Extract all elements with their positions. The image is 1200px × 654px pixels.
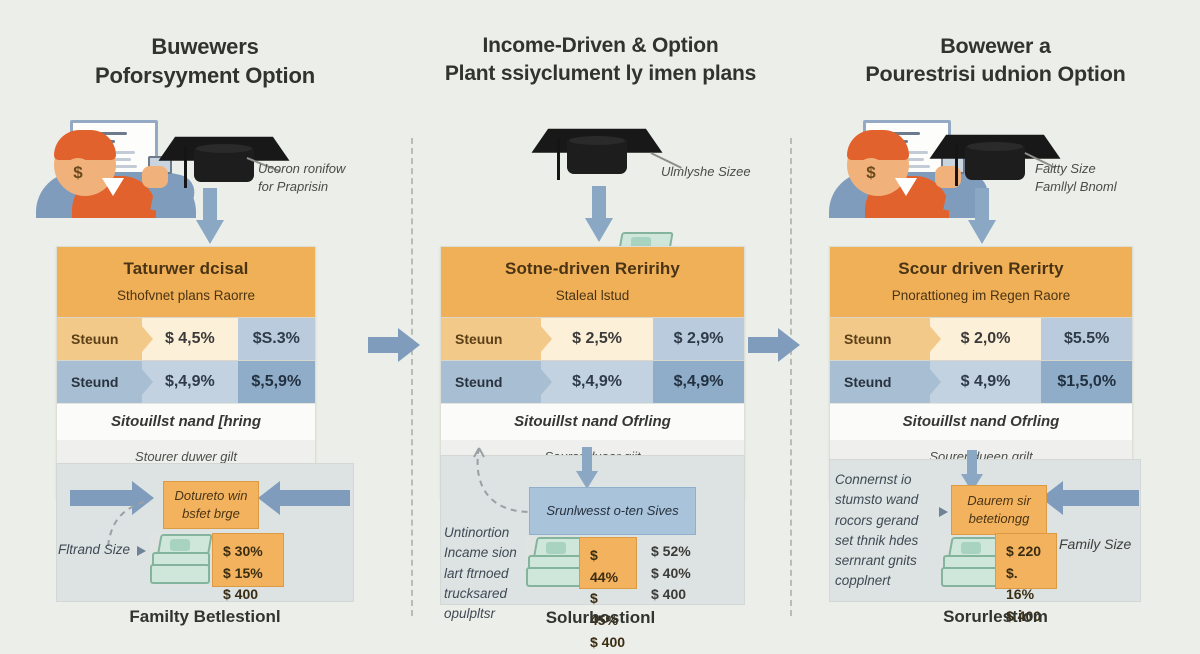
column-3-heading-line2: Pourestrisi udnion Option — [805, 60, 1186, 88]
row-label: Steunn — [830, 318, 930, 360]
row-value-1: $ 4,9% — [930, 361, 1042, 403]
side-text-line: copplnert — [835, 571, 918, 591]
column-borrower-forgiveness-option: Bowewer a Pourestrisi udnion Option $ Fa — [791, 0, 1200, 654]
column-1-section-title: Sitouillst nand [hring — [57, 403, 315, 440]
side-text-line: rocors gerand — [835, 511, 918, 531]
books-stack-icon — [526, 537, 578, 589]
column-1-heading-line2: Poforsyyment Option — [14, 61, 396, 90]
side-text-line: set thnik hdes — [835, 531, 918, 551]
graduation-cap-icon — [541, 112, 653, 186]
money-value: $ 30% — [223, 541, 273, 563]
side-text-line: sernrant gnits — [835, 551, 918, 571]
table-row: Steund $,4,9% $,4,9% — [441, 360, 744, 403]
column-3-card-header: Scour driven Rerirty Pnorattioneg im Reg… — [830, 247, 1132, 317]
column-1-annotation: Ucoron ronifow for Praprisin — [258, 160, 345, 195]
side-text-line: Incame sion — [444, 543, 517, 563]
row-label: Steund — [830, 361, 930, 403]
column-3-money-box: $ 220 $. 16% $ 400 — [995, 533, 1057, 589]
column-3-family-size-label: Family Size — [1059, 535, 1131, 554]
column-2-annotation-line1: Ulmlyshe Sizee — [661, 163, 751, 181]
money-value: $ 400 — [651, 584, 691, 606]
column-2-heading-line1: Income-Driven & Option — [483, 34, 719, 57]
column-2-annotation: Ulmlyshe Sizee — [661, 163, 751, 181]
side-text-line: lart ftrnoed — [444, 564, 517, 584]
table-row: Steund $,4,9% $,5,9% — [57, 360, 315, 403]
column-2-chip: Srunlwesst o-ten Sives — [529, 487, 696, 535]
column-3-annotation-line2: Famllyl Bnoml — [1035, 178, 1117, 196]
side-text-line: Untinortion — [444, 523, 517, 543]
column-2-card-header: Sotne-driven Reririhy Staleal lstud — [441, 247, 744, 317]
panel-arrow-left-1 — [258, 481, 350, 515]
row-value-1: $,4,9% — [142, 361, 237, 403]
column-2-caption: Solurbostionl — [411, 608, 790, 628]
table-row: Steuun $ 2,5% $ 2,9% — [441, 317, 744, 360]
infographic-canvas: Buwewers Poforsyyment Option $ Ucor — [0, 0, 1200, 654]
row-label: Steund — [57, 361, 142, 403]
row-value-1: $,4,9% — [541, 361, 653, 403]
column-2-books-icon-box — [526, 537, 578, 589]
table-row: Steund $ 4,9% $1,5,0% — [830, 360, 1132, 403]
panel-arrow-right-1 — [70, 481, 154, 515]
column-3-card-title: Scour driven Rerirty — [840, 259, 1122, 279]
row-value-2: $5.5% — [1041, 318, 1132, 360]
row-label: Steund — [441, 361, 541, 403]
column-2-chip-label: Srunlwesst o-ten Sives — [546, 502, 678, 520]
row-label: Steuun — [441, 318, 541, 360]
column-1-heading-line1: Buwewers — [151, 34, 258, 59]
column-3-chip-line2: betetiongg — [967, 510, 1031, 528]
flow-arrow-down-2 — [585, 186, 613, 242]
column-3-chip-line1: Daurem sir — [967, 492, 1031, 510]
row-value-1: $ 4,5% — [142, 318, 237, 360]
column-2-card-subtitle: Staleal lstud — [451, 288, 734, 303]
column-1-card: Taturwer dcisal Sthofvnet plans Raorre S… — [56, 246, 316, 499]
column-1-heading: Buwewers Poforsyyment Option — [0, 32, 410, 90]
panel-arrow-left-3 — [1041, 481, 1139, 515]
side-text-line: stumsto wand — [835, 490, 918, 510]
column-2-section-title: Sitouillst nand Ofrling — [441, 403, 744, 440]
flow-arrow-down-1 — [196, 188, 224, 244]
column-1-books-icon-box — [150, 533, 208, 587]
money-value: $. 16% — [1006, 563, 1046, 606]
money-value: $ 40% — [651, 563, 691, 585]
row-value-1: $ 2,5% — [541, 318, 653, 360]
column-1-card-header: Taturwer dcisal Sthofvnet plans Raorre — [57, 247, 315, 317]
money-value: $ 400 — [590, 632, 626, 654]
column-3-chip: Daurem sir betetiongg — [951, 485, 1047, 535]
column-1-annotation-line1: Ucoron ronifow — [258, 160, 345, 178]
side-text-line: Connernst io — [835, 470, 918, 490]
column-1-money-box: $ 30% $ 15% $ 400 — [212, 533, 284, 587]
column-1-side-label: Fltrand Size — [58, 540, 130, 560]
column-3-section-title: Sitouillst nand Ofrling — [830, 403, 1132, 440]
column-1-chip-line2: bsfet brge — [175, 505, 248, 523]
flow-arrow-down-to-panel-2 — [576, 447, 598, 491]
money-value: $ 400 — [223, 584, 273, 606]
row-value-2: $,4,9% — [653, 361, 744, 403]
column-2-heading-line2: Plant ssiyclument ly imen plans — [425, 60, 776, 88]
row-value-2: $ 2,9% — [653, 318, 744, 360]
pointer-arrow-icon — [939, 507, 948, 517]
money-value: $ 15% — [223, 563, 273, 585]
money-value: $ 220 — [1006, 541, 1046, 563]
books-stack-icon — [150, 534, 208, 586]
row-label: Steuun — [57, 318, 142, 360]
side-text-line: trucksared — [444, 584, 517, 604]
column-1-chip: Dotureto win bsfet brge — [163, 481, 259, 529]
column-1-annotation-line2: for Praprisin — [258, 178, 345, 196]
table-row: Steuun $ 4,5% $S.3% — [57, 317, 315, 360]
column-1-chip-line1: Dotureto win — [175, 487, 248, 505]
money-value: $ 44% — [590, 545, 626, 588]
table-row: Steunn $ 2,0% $5.5% — [830, 317, 1132, 360]
column-3-annotation-line1: Faitty Size — [1035, 160, 1117, 178]
column-3-books-icon-box — [941, 537, 993, 589]
flow-arrow-down-3 — [968, 188, 996, 244]
money-symbol: $ — [856, 158, 886, 188]
column-3-heading: Bowewer a Pourestrisi udnion Option — [791, 32, 1200, 89]
column-3-heading-line1: Bowewer a — [940, 34, 1051, 58]
column-income-driven-plans: Income-Driven & Option Plant ssiyclument… — [411, 0, 790, 654]
column-2-money-box: $ 44% $ 45% $ 400 — [579, 537, 637, 589]
column-2-card-title: Sotne-driven Reririhy — [451, 259, 734, 279]
row-value-2: $S.3% — [238, 318, 315, 360]
column-2-money-column: $ 52% $ 40% $ 400 — [651, 541, 691, 606]
column-3-side-text: Connernst io stumsto wand rocors gerand … — [835, 470, 918, 592]
row-value-2: $,5,9% — [238, 361, 315, 403]
column-3-card-subtitle: Pnorattioneg im Regen Raore — [840, 288, 1122, 303]
column-1-caption: Familty Betlestionl — [0, 607, 410, 627]
column-1-card-subtitle: Sthofvnet plans Raorre — [67, 288, 305, 303]
money-symbol: $ — [63, 158, 93, 188]
column-borrower-repayment-option: Buwewers Poforsyyment Option $ Ucor — [0, 0, 410, 654]
pointer-arrow-icon — [137, 546, 146, 556]
column-1-card-title: Taturwer dcisal — [67, 259, 305, 279]
money-value: $ 52% — [651, 541, 691, 563]
row-value-1: $ 2,0% — [930, 318, 1042, 360]
column-3-annotation: Faitty Size Famllyl Bnoml — [1035, 160, 1117, 195]
books-stack-icon — [941, 537, 993, 589]
column-3-caption: Sorurlestiom — [791, 607, 1200, 627]
column-2-heading: Income-Driven & Option Plant ssiyclument… — [411, 32, 790, 87]
row-value-2: $1,5,0% — [1041, 361, 1132, 403]
